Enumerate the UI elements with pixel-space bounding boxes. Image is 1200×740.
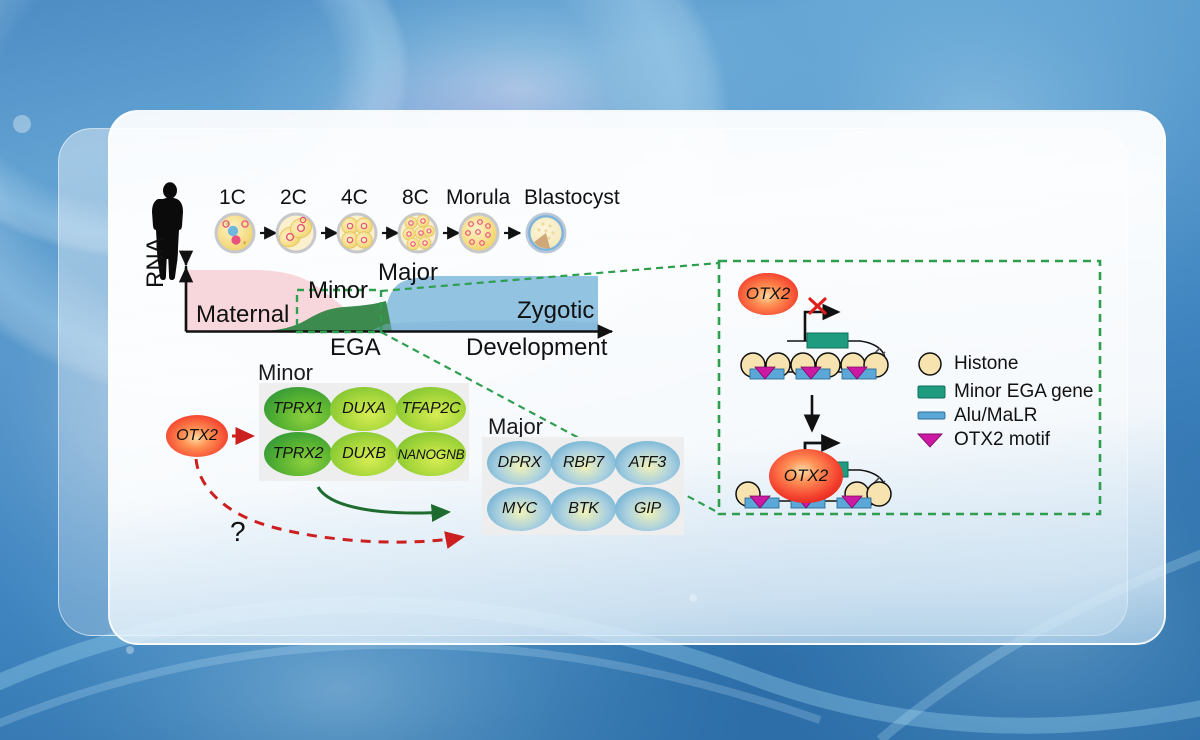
otx2-bound-label: OTX2 <box>769 449 843 503</box>
legend-motif-icon <box>918 434 942 447</box>
legend-label-alu-malr: Alu/MaLR <box>954 405 1037 427</box>
minor-ega-gene-box-top <box>807 333 848 348</box>
mechanism-panel-graphics <box>0 0 1200 740</box>
legend-label-otx2-motif: OTX2 motif <box>954 429 1050 451</box>
legend-alu-icon <box>918 412 945 419</box>
legend-gene-icon <box>918 386 945 398</box>
legend-label-histone: Histone <box>954 353 1018 375</box>
figure-content: ♂ ♀ <box>0 0 1200 740</box>
legend-label-minor-ega-gene: Minor EGA gene <box>954 381 1093 403</box>
otx2-free-label: OTX2 <box>738 273 798 315</box>
legend-histone-icon <box>919 353 941 375</box>
